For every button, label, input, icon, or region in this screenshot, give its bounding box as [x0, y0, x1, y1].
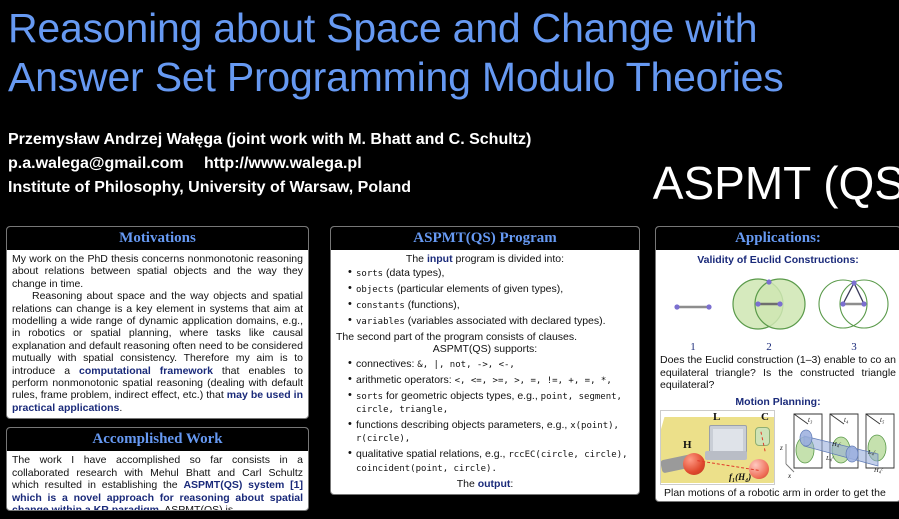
motion-planning-diagram: t₃ t₄ t₅ z x H₄ᶜ L₄ᶜ L₄ᶜ H₄ᶜ: [778, 410, 896, 483]
input-code-2: constants: [356, 301, 405, 311]
svg-text:t₃: t₃: [808, 416, 813, 424]
output-b: :: [510, 478, 513, 490]
applications-heading: Applications:: [656, 227, 899, 250]
robot-scene-image: L C H f₁(H₄): [660, 410, 775, 485]
svg-text:H₄ᶜ: H₄ᶜ: [831, 441, 842, 448]
applications-body: Validity of Euclid Constructions: 1: [656, 250, 899, 501]
label-f-h4: f₁(H₄): [729, 471, 751, 483]
motivations-p2-bold-1: computational framework: [79, 365, 213, 377]
svg-text:x: x: [787, 472, 792, 480]
program-body: The input program is divided into: sorts…: [331, 250, 639, 494]
program-intro: The input program is divided into:: [336, 253, 634, 265]
list-item: connectives: &, |, not, ->, <-,: [348, 358, 634, 371]
support-lead-1: arithmetic operators:: [356, 374, 455, 386]
support-lead-4: qualitative spatial relations, e.g.,: [356, 448, 508, 460]
program-intro-bold: input: [427, 253, 453, 265]
motion-figures: L C H f₁(H₄): [660, 410, 896, 485]
program-output: The output:: [336, 478, 634, 490]
euclid-diagram-two-circles-icon: [731, 271, 807, 337]
input-parts-list: sorts (data types), objects (particular …: [336, 267, 634, 328]
program-panel: ASPMT(QS) Program The input program is d…: [330, 226, 640, 495]
label-l: L: [713, 411, 720, 423]
list-item: arithmetic operators: <, <=, >=, >, =, !…: [348, 374, 634, 387]
euclid-diagram-triangle-icon: [817, 271, 891, 337]
list-item: functions describing objects parameters,…: [348, 419, 634, 446]
list-item: variables (variables associated with dec…: [348, 315, 634, 328]
motivations-p2-c: .: [119, 402, 122, 414]
euclid-subheading: Validity of Euclid Constructions:: [660, 254, 896, 266]
title-line-2: Answer Set Programming Modulo Theories: [8, 53, 894, 102]
affiliation: Institute of Philosophy, University of W…: [8, 176, 531, 200]
svg-text:L₄ᶜ: L₄ᶜ: [825, 455, 835, 462]
motivations-body: My work on the PhD thesis concerns nonmo…: [7, 250, 308, 418]
svg-text:L₄ᶜ: L₄ᶜ: [867, 449, 877, 456]
euclid-label-2: 2: [731, 341, 807, 353]
input-text-3: (variables associated with declared type…: [405, 315, 606, 327]
support-tail-2: for geometric objects types, e.g.,: [383, 390, 541, 402]
svg-text:H₄ᶜ: H₄ᶜ: [873, 467, 884, 474]
time-planes-icon: t₃ t₄ t₅ z x H₄ᶜ L₄ᶜ L₄ᶜ H₄ᶜ: [778, 410, 896, 483]
right-column: Applications: Validity of Euclid Constru…: [655, 226, 899, 506]
list-item: sorts (data types),: [348, 267, 634, 280]
accomplished-heading: Accomplished Work: [7, 428, 308, 451]
euclid-figure-3: 3: [817, 271, 891, 354]
output-bold: output: [478, 478, 511, 490]
motion-subheading: Motion Planning:: [660, 396, 896, 408]
program-supports: ASPMT(QS) supports:: [336, 343, 634, 355]
euclid-caption: Does the Euclid construction (1–3) enabl…: [660, 353, 896, 391]
program-intro-b: program is divided into:: [453, 253, 564, 265]
euclid-figure-1: 1: [665, 271, 721, 354]
input-code-0: sorts: [356, 269, 383, 279]
laptop-base: [705, 451, 747, 460]
euclid-diagram-segment-icon: [665, 271, 721, 337]
program-intro-a: The: [406, 253, 427, 265]
input-code-1: objects: [356, 285, 394, 295]
input-code-3: variables: [356, 317, 405, 327]
input-text-0: (data types),: [383, 267, 444, 279]
euclid-label-1: 1: [665, 341, 721, 353]
author-names: Przemysław Andrzej Wałęga (joint work wi…: [8, 128, 531, 152]
list-item: objects (particular elements of given ty…: [348, 283, 634, 296]
input-text-1: (particular elements of given types),: [394, 283, 563, 295]
accomplished-b: . ASPMT(QS) is: [159, 504, 233, 511]
svg-text:t₄: t₄: [844, 416, 849, 424]
program-heading: ASPMT(QS) Program: [331, 227, 639, 250]
list-item: constants (functions),: [348, 299, 634, 312]
euclid-figure-2: 2: [731, 271, 807, 354]
output-a: The: [457, 478, 478, 490]
poster-header: Reasoning about Space and Change with An…: [0, 0, 899, 218]
support-code-0: &, |, not, ->, <-,: [417, 360, 515, 370]
middle-column: ASPMT(QS) Program The input program is d…: [330, 226, 640, 506]
motivations-para-1: My work on the PhD thesis concerns nonmo…: [12, 253, 303, 290]
accomplished-body: The work I have accomplished so far cons…: [7, 451, 308, 511]
svg-text:z: z: [779, 444, 783, 452]
contact-row: p.a.walega@gmail.comhttp://www.walega.pl: [8, 152, 531, 176]
aspmt-logo: ASPMT (QS: [653, 158, 899, 208]
support-code-1: <, <=, >=, >, =, !=, +, =, *,: [455, 376, 612, 386]
accomplished-panel: Accomplished Work The work I have accomp…: [6, 427, 309, 511]
motion-caption: Plan motions of a robotic arm in order t…: [660, 485, 896, 499]
input-text-2: (functions),: [405, 299, 460, 311]
motivations-panel: Motivations My work on the PhD thesis co…: [6, 226, 309, 419]
support-code-2: sorts: [356, 392, 383, 402]
euclid-figures: 1 2: [660, 267, 896, 353]
list-item: qualitative spatial relations, e.g., rcc…: [348, 448, 634, 475]
author-website: http://www.walega.pl: [204, 155, 362, 172]
motivations-para-2: Reasoning about space and the way object…: [12, 290, 303, 414]
label-c: C: [761, 411, 769, 423]
motivations-heading: Motivations: [7, 227, 308, 250]
svg-text:t₅: t₅: [880, 416, 885, 424]
poster-title: Reasoning about Space and Change with An…: [8, 4, 894, 102]
support-lead-0: connectives:: [356, 358, 417, 370]
author-email: p.a.walega@gmail.com: [8, 152, 204, 176]
sphere-h: [683, 453, 705, 475]
program-second-part: The second part of the program consists …: [336, 331, 634, 343]
support-lead-3: functions describing objects parameters,…: [356, 419, 570, 431]
list-item: sorts for geometric objects types, e.g.,…: [348, 390, 634, 417]
title-line-1: Reasoning about Space and Change with: [8, 4, 894, 53]
euclid-label-3: 3: [817, 341, 891, 353]
left-column: Motivations My work on the PhD thesis co…: [6, 226, 309, 519]
label-h: H: [683, 439, 692, 451]
poster: Reasoning about Space and Change with An…: [0, 0, 899, 506]
supports-list: connectives: &, |, not, ->, <-, arithmet…: [336, 358, 634, 475]
accomplished-text: The work I have accomplished so far cons…: [12, 454, 303, 511]
author-block: Przemysław Andrzej Wałęga (joint work wi…: [8, 128, 531, 200]
applications-panel: Applications: Validity of Euclid Constru…: [655, 226, 899, 502]
